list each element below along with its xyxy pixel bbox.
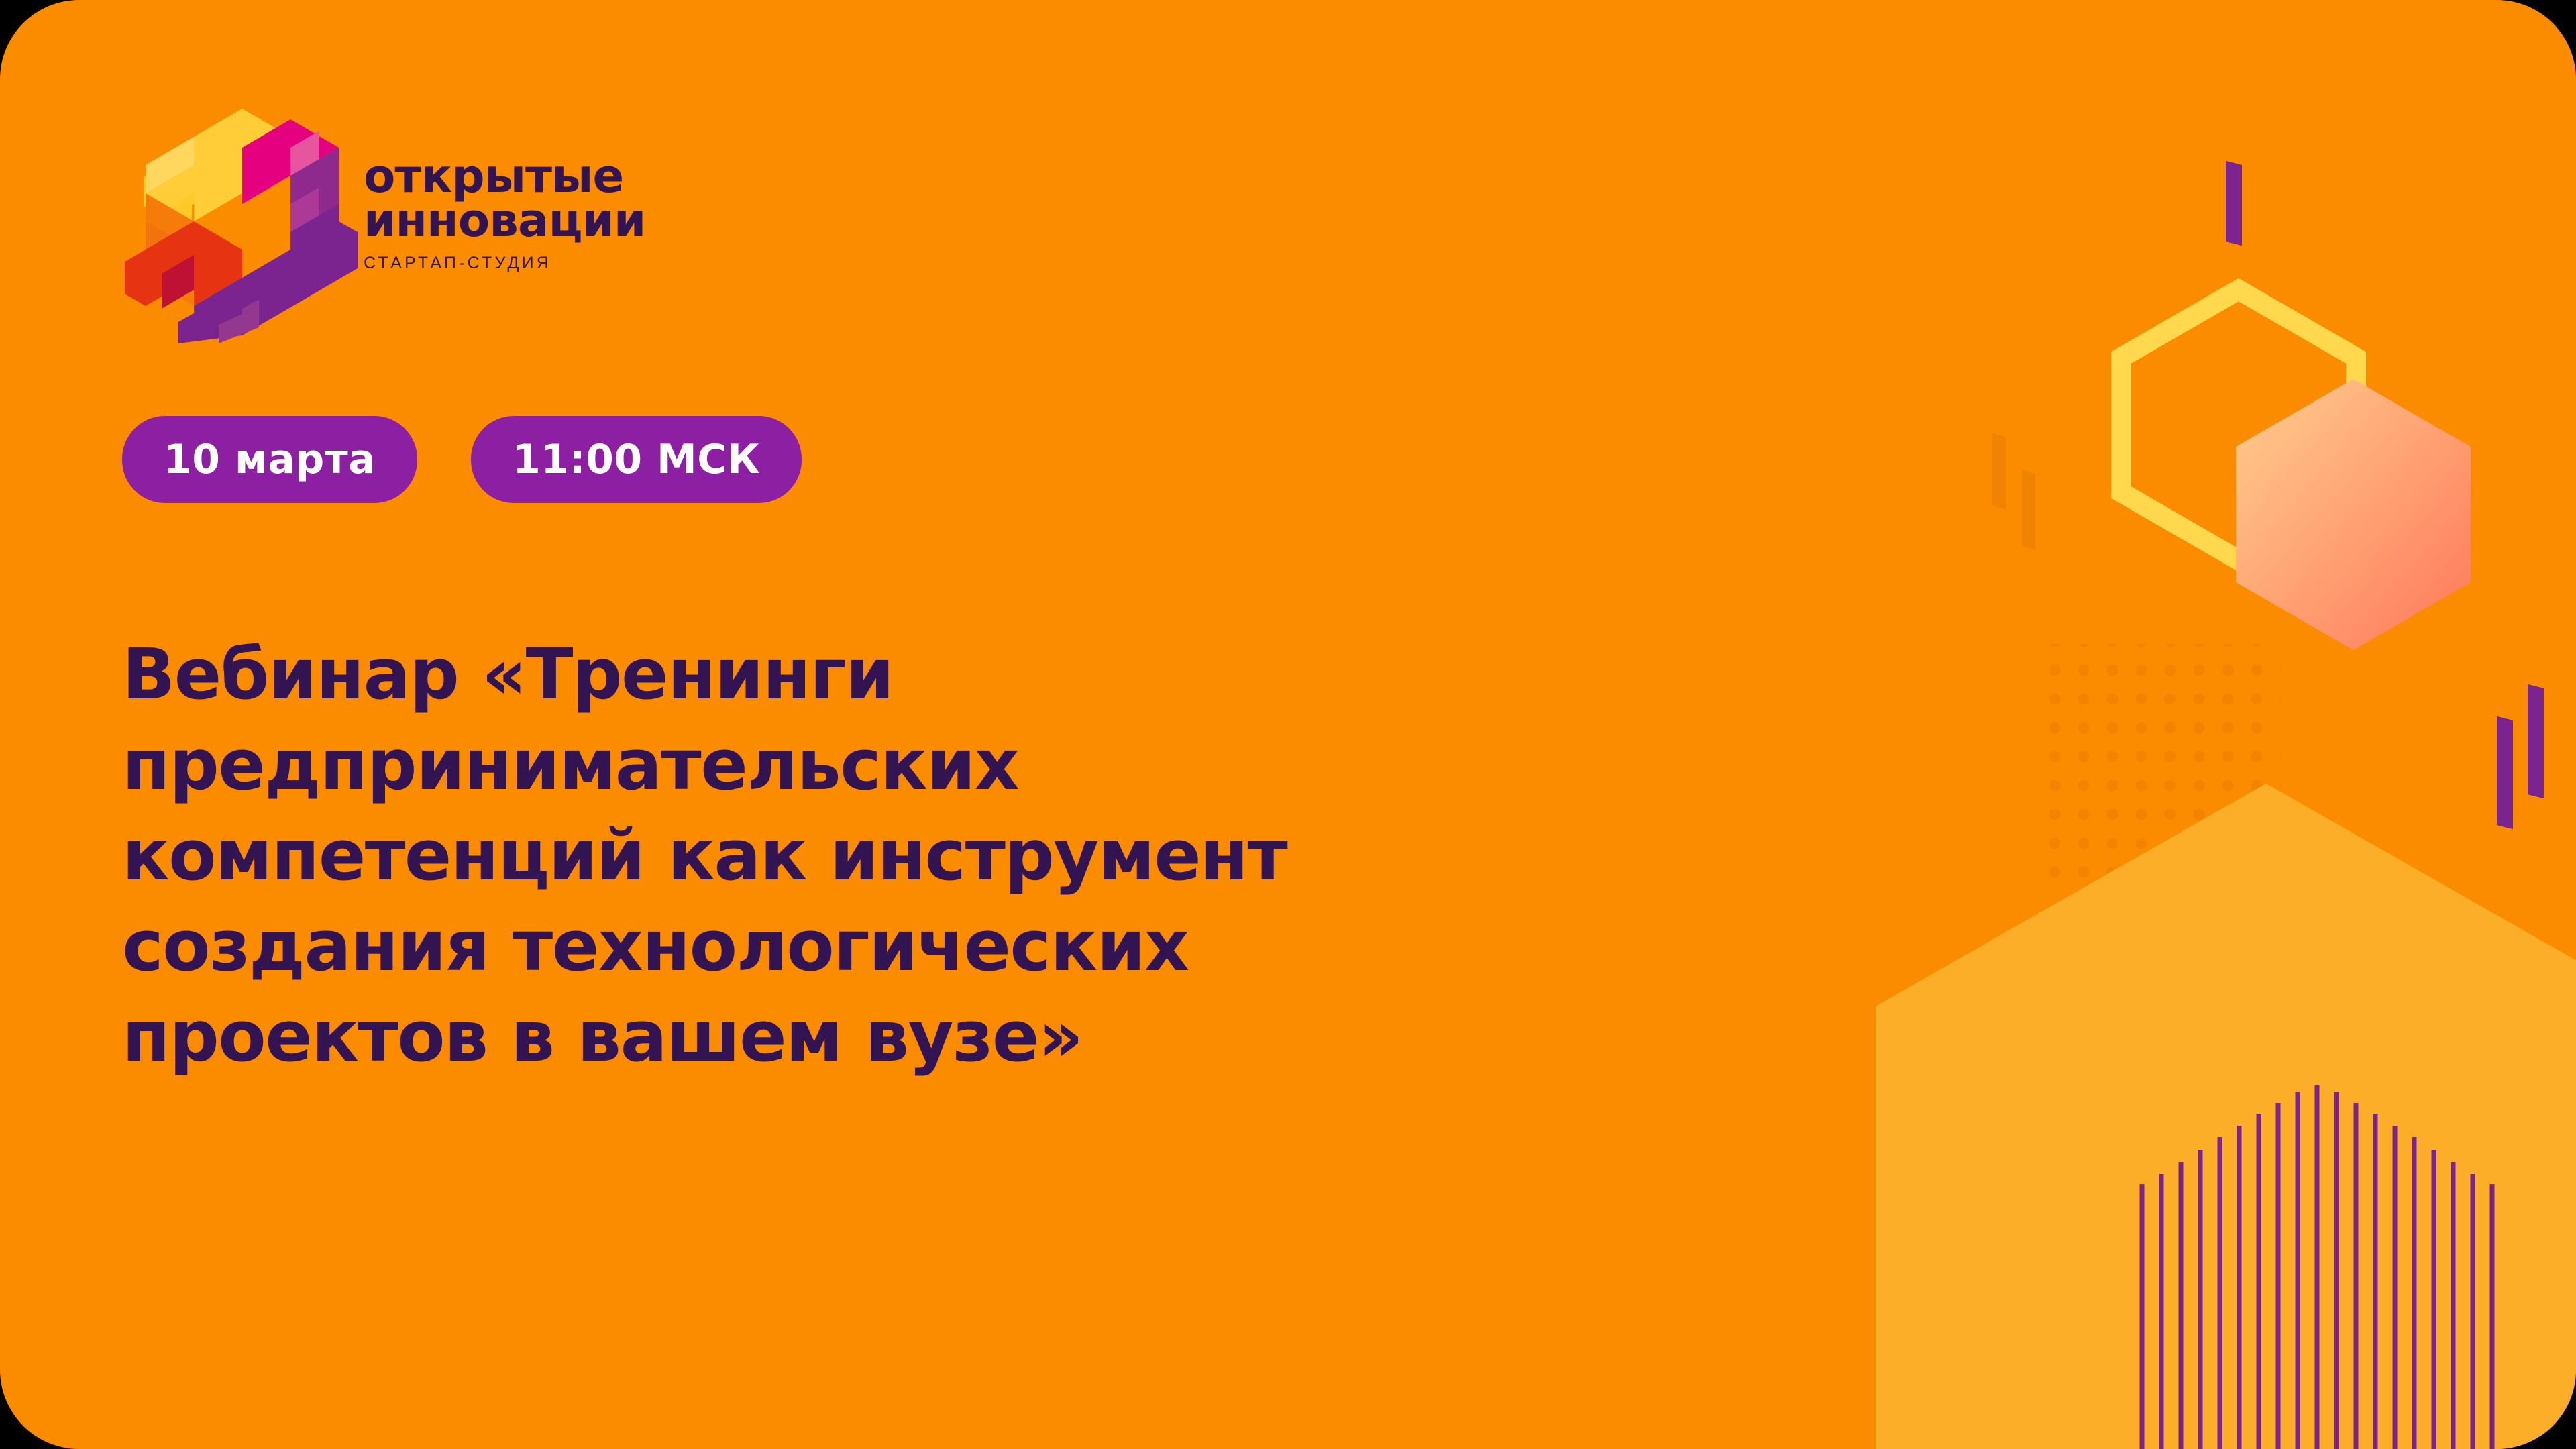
arch-stripe-pattern <box>2142 1085 2492 1449</box>
logo-tagline: СТАРТАП-СТУДИЯ <box>364 254 645 273</box>
date-badge[interactable]: 10 марта <box>122 416 417 503</box>
logo-line-1: открытые <box>364 154 645 199</box>
headline-line-3: компетенций как инструмент <box>122 810 1907 901</box>
headline-line-1: Вебинар «Тренинги <box>122 629 1907 720</box>
hexagon-outline <box>2121 290 2356 560</box>
dot-grid-pattern <box>2031 644 2281 894</box>
event-meta-badges: 10 марта 11:00 МСК <box>122 416 802 503</box>
hexagon-gradient <box>2236 379 2471 650</box>
headline-line-2: предпринимательских <box>122 720 1907 810</box>
slanted-bar-purple-right-tall <box>2528 684 2544 798</box>
time-badge[interactable]: 11:00 МСК <box>471 416 802 503</box>
headline-line-4: создания технологических <box>122 901 1907 991</box>
hexagon-large <box>1876 784 2576 1449</box>
brand-wordmark: открытые инновации СТАРТАП-СТУДИЯ <box>364 101 645 273</box>
slanted-bar-purple-right-short <box>2497 716 2513 829</box>
logo-line-2: инновации <box>364 199 645 243</box>
open-innovations-cube-icon <box>125 101 360 343</box>
headline-line-5: проектов в вашем вузе» <box>122 991 1907 1082</box>
slanted-bar-purple-top <box>2226 161 2242 246</box>
brand-logo[interactable]: открытые инновации СТАРТАП-СТУДИЯ <box>125 101 645 343</box>
page-title: Вебинар «Тренинги предпринимательских ко… <box>122 629 1907 1083</box>
webinar-announcement-banner: открытые инновации СТАРТАП-СТУДИЯ 10 мар… <box>0 0 2576 1449</box>
slanted-bar-orange <box>1992 433 2035 550</box>
